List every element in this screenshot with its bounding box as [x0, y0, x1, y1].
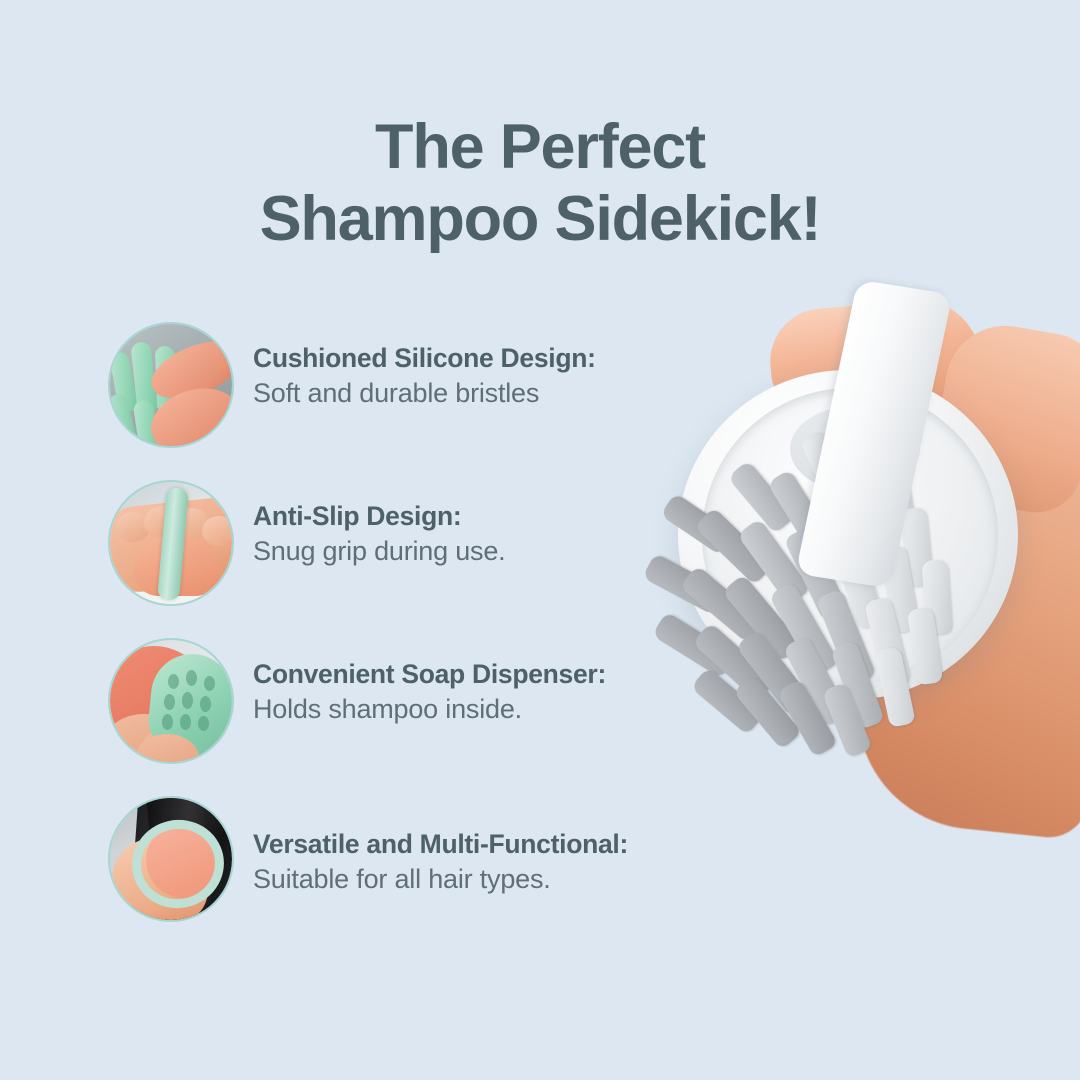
page-title-line-2: Shampoo Sidekick!: [0, 184, 1080, 254]
feature-description: Suitable for all hair types.: [253, 861, 793, 897]
page-title: The Perfect Shampoo Sidekick!: [0, 112, 1080, 254]
hand-strap-grip-image: [110, 482, 232, 604]
brush-on-black-hair-image: [110, 798, 232, 920]
scalp-massager-brush-in-hand: [640, 276, 1080, 836]
infographic-canvas: The Perfect Shampoo Sidekick!: [0, 0, 1080, 1080]
page-title-line-1: The Perfect: [0, 112, 1080, 182]
feature-text-versatile-multi-functional: Versatile and Multi-Functional: Suitable…: [253, 828, 793, 897]
feature-thumbnail-anti-slip-design: [108, 480, 234, 606]
bristle-closeup-image: [110, 324, 232, 446]
feature-thumbnail-versatile-multi-functional: [108, 796, 234, 922]
feature-thumbnail-cushioned-silicone-design: [108, 322, 234, 448]
hero-product-image: [640, 276, 1080, 836]
brush-face-over-bowl-image: [110, 640, 232, 762]
feature-thumbnail-convenient-soap-dispenser: [108, 638, 234, 764]
